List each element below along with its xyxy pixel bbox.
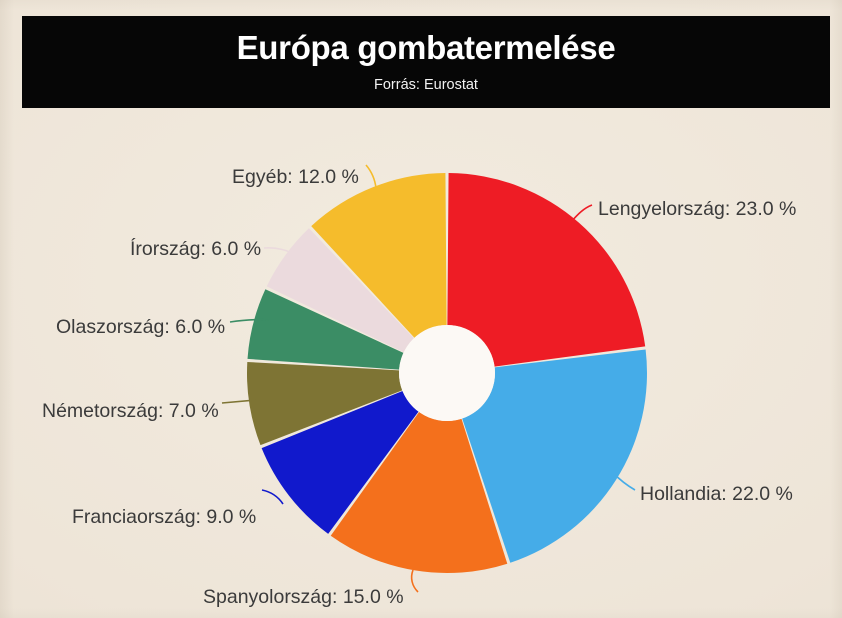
slice-label-6: Olaszország: 6.0 % (56, 318, 225, 338)
slice-label-5: Németország: 7.0 % (42, 402, 219, 422)
chart-source-subtitle: Forrás: Eurostat (374, 77, 478, 93)
slice-label-4: Franciaország: 9.0 % (72, 508, 256, 528)
title-banner: Európa gombatermelése Forrás: Eurostat (22, 16, 830, 108)
leader-line-1 (571, 205, 592, 222)
slice-label-3: Spanyolország: 15.0 % (203, 588, 404, 608)
leader-line-4 (262, 490, 283, 504)
leader-line-8 (366, 165, 376, 188)
slice-label-1: Lengyelország: 23.0 % (598, 200, 796, 220)
chart-page: Európa gombatermelése Forrás: Eurostat L… (0, 0, 842, 618)
leader-line-3 (412, 570, 418, 592)
leader-line-2 (612, 472, 635, 490)
donut-center-hole (399, 325, 495, 421)
slice-label-7: Írország: 6.0 % (130, 240, 261, 260)
slice-label-8: Egyéb: 12.0 % (232, 168, 359, 188)
page-title: Európa gombatermelése (237, 31, 616, 66)
slice-label-2: Hollandia: 22.0 % (640, 485, 793, 505)
